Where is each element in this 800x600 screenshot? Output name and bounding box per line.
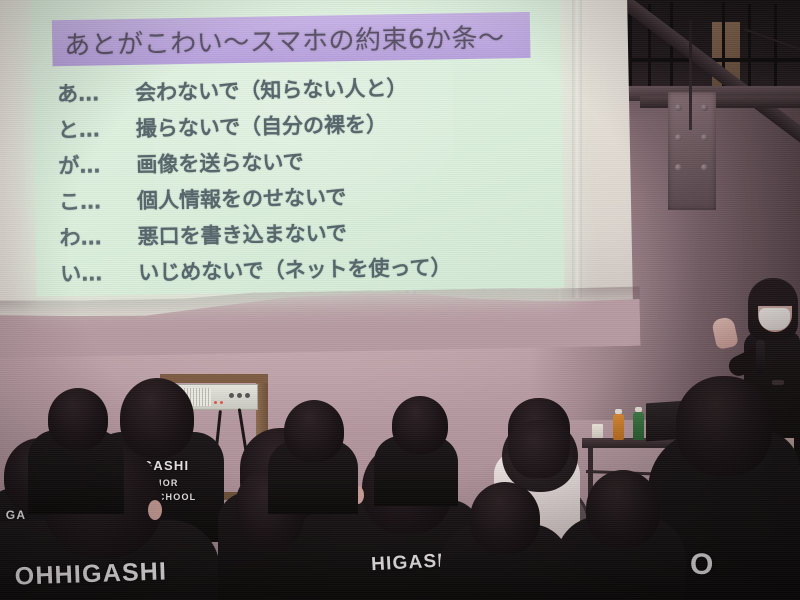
student-head bbox=[676, 376, 772, 476]
slide-title-band: あとがこわい〜スマホの約束6か条〜 bbox=[52, 12, 531, 66]
list-item: と… 撮らないで（自分の裸を） bbox=[57, 106, 547, 145]
rule-key: が… bbox=[58, 149, 137, 180]
rule-value: いじめないで（ネットを使って） bbox=[138, 251, 452, 286]
projected-slide: あとがこわい〜スマホの約束6か条〜 あ… 会わないで（知らない人と） と… 撮ら… bbox=[31, 0, 564, 297]
green-bottle bbox=[633, 412, 644, 440]
ceiling-rail-6 bbox=[774, 4, 777, 86]
list-item: が… 画像を送らないで bbox=[58, 142, 548, 181]
student-head bbox=[470, 482, 540, 554]
rule-value: 悪口を書き込まないで bbox=[137, 217, 347, 251]
microphone-icon bbox=[756, 340, 765, 374]
roof-beam-secondary bbox=[640, 96, 800, 108]
list-item: い… いじめないで（ネットを使って） bbox=[60, 250, 550, 289]
ceiling-rail-5 bbox=[748, 4, 751, 88]
rule-key: あ… bbox=[57, 77, 136, 108]
student-head bbox=[120, 378, 194, 458]
rule-key: と… bbox=[57, 113, 136, 144]
list-item: あ… 会わないで（知らない人と） bbox=[57, 70, 547, 109]
rule-key: こ… bbox=[59, 185, 138, 216]
rule-value: 画像を送らないで bbox=[136, 146, 304, 179]
green-bottle-cap bbox=[635, 407, 642, 412]
rule-key: わ… bbox=[59, 221, 138, 252]
slide-title: あとがこわい〜スマホの約束6か条〜 bbox=[64, 17, 505, 62]
orange-bottle-cap bbox=[615, 409, 622, 414]
student-head bbox=[48, 388, 108, 450]
slide-rule-list: あ… 会わないで（知らない人と） と… 撮らないで（自分の裸を） が… 画像を送… bbox=[57, 70, 551, 295]
face-mask-icon bbox=[759, 308, 790, 330]
rule-key: い… bbox=[60, 257, 139, 288]
student-head bbox=[284, 400, 344, 462]
rule-value: 撮らないで（自分の裸を） bbox=[135, 108, 387, 142]
white-cup bbox=[592, 424, 603, 438]
steel-gusset-plate bbox=[668, 92, 716, 210]
ear bbox=[148, 500, 162, 520]
rule-value: 個人情報をのせないで bbox=[137, 181, 347, 215]
seated-adult-hair bbox=[502, 420, 578, 492]
list-item: わ… 悪口を書き込まないで bbox=[59, 214, 549, 253]
shirt-logo-letter: O bbox=[690, 548, 714, 582]
orange-bottle bbox=[613, 414, 624, 440]
sheet-fold-2 bbox=[572, 0, 582, 298]
rule-value: 会わないで（知らない人と） bbox=[135, 72, 408, 107]
wristwatch-icon bbox=[772, 380, 784, 385]
photo-canvas: あとがこわい〜スマホの約束6か条〜 あ… 会わないで（知らない人と） と… 撮ら… bbox=[0, 0, 800, 600]
student-head bbox=[586, 470, 660, 548]
hanger-rod bbox=[689, 20, 692, 130]
list-item: こ… 個人情報をのせないで bbox=[59, 178, 549, 217]
student-head bbox=[392, 396, 448, 454]
